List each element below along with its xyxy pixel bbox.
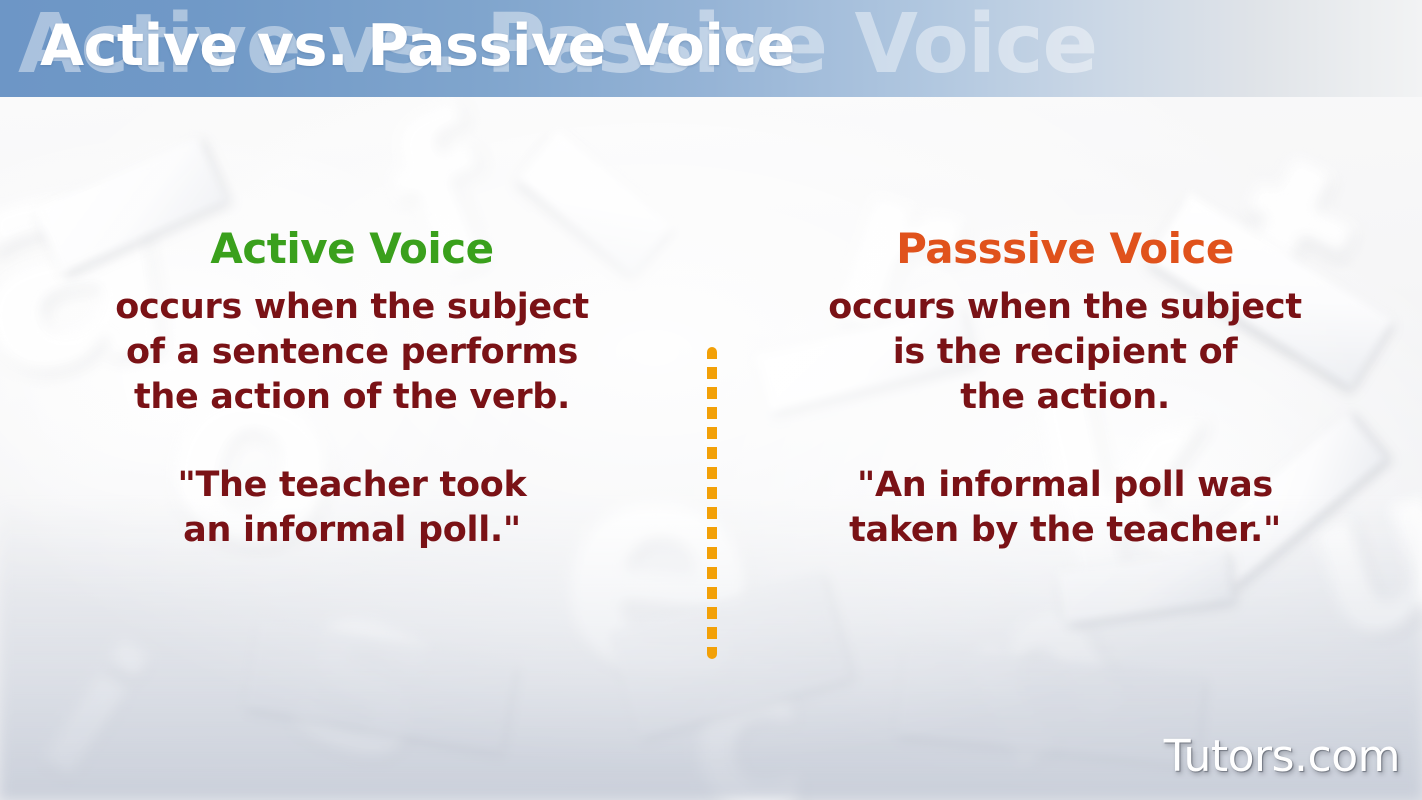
definition-line: occurs when the subject bbox=[62, 285, 642, 330]
tutors-logo[interactable]: Tutors.com bbox=[1164, 731, 1400, 782]
page-title: Active vs. Passive Voice bbox=[40, 0, 795, 92]
definition-line: of a sentence performs bbox=[62, 330, 642, 375]
active-voice-definition: occurs when the subject of a sentence pe… bbox=[62, 285, 642, 419]
passive-voice-example: "An informal poll was taken by the teach… bbox=[775, 463, 1355, 553]
active-voice-example: "The teacher took an informal poll." bbox=[62, 463, 642, 553]
column-active-voice: Active Voice occurs when the subject of … bbox=[62, 227, 642, 553]
passive-voice-heading: Passsive Voice bbox=[775, 227, 1355, 271]
definition-line: the action of the verb. bbox=[62, 375, 642, 420]
title-bar: Active vs. Passive Voice Active vs. Pass… bbox=[0, 0, 1422, 97]
definition-line: the action. bbox=[775, 375, 1355, 420]
passive-voice-definition: occurs when the subject is the recipient… bbox=[775, 285, 1355, 419]
definition-line: is the recipient of bbox=[775, 330, 1355, 375]
column-divider bbox=[707, 347, 717, 659]
example-line: an informal poll." bbox=[62, 508, 642, 553]
definition-line: occurs when the subject bbox=[775, 285, 1355, 330]
comparison-columns: Active Voice occurs when the subject of … bbox=[0, 97, 1422, 800]
column-passive-voice: Passsive Voice occurs when the subject i… bbox=[775, 227, 1355, 553]
example-line: "The teacher took bbox=[62, 463, 642, 508]
slide: a o f e r k t n s c i u Active vs. Passi… bbox=[0, 0, 1422, 800]
example-line: "An informal poll was bbox=[775, 463, 1355, 508]
example-line: taken by the teacher." bbox=[775, 508, 1355, 553]
active-voice-heading: Active Voice bbox=[62, 227, 642, 271]
